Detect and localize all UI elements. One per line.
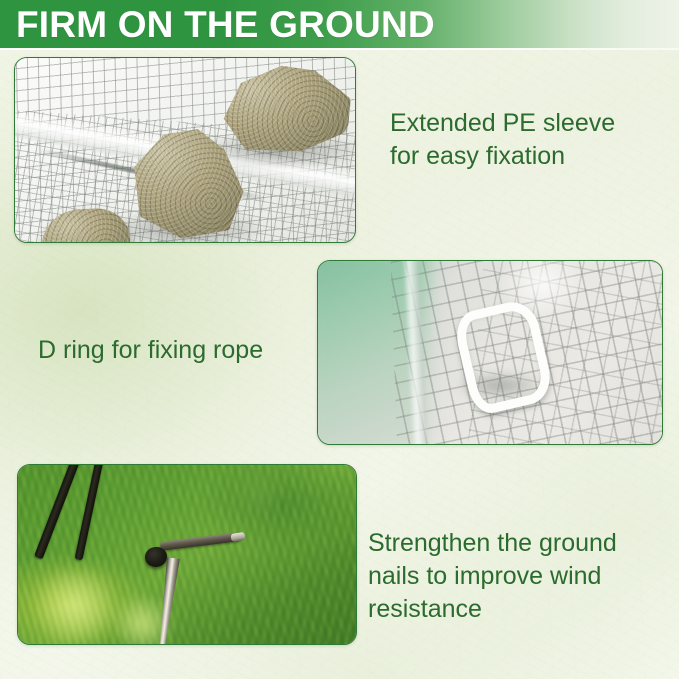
mesh-rocks-photo-content [15,58,355,242]
header-divider [0,48,679,50]
header-banner: FIRM ON THE GROUND [0,0,679,48]
caption-d-ring: D ring for fixing rope [38,334,323,367]
grass-bokeh-shadow [224,469,292,516]
caption-ground-nails: Strengthen the ground nails to improve w… [368,527,668,626]
ground-nail-photo [17,464,357,645]
d-ring-photo-content [318,261,662,444]
product-feature-poster: FIRM ON THE GROUND Extended PE sleeve fo… [0,0,679,679]
page-title: FIRM ON THE GROUND [16,3,435,46]
mesh-rocks-photo [14,57,356,243]
d-ring-photo [317,260,663,445]
caption-extended-pe-sleeve: Extended PE sleeve for easy fixation [390,107,660,173]
ground-nail-photo-content [18,465,356,644]
